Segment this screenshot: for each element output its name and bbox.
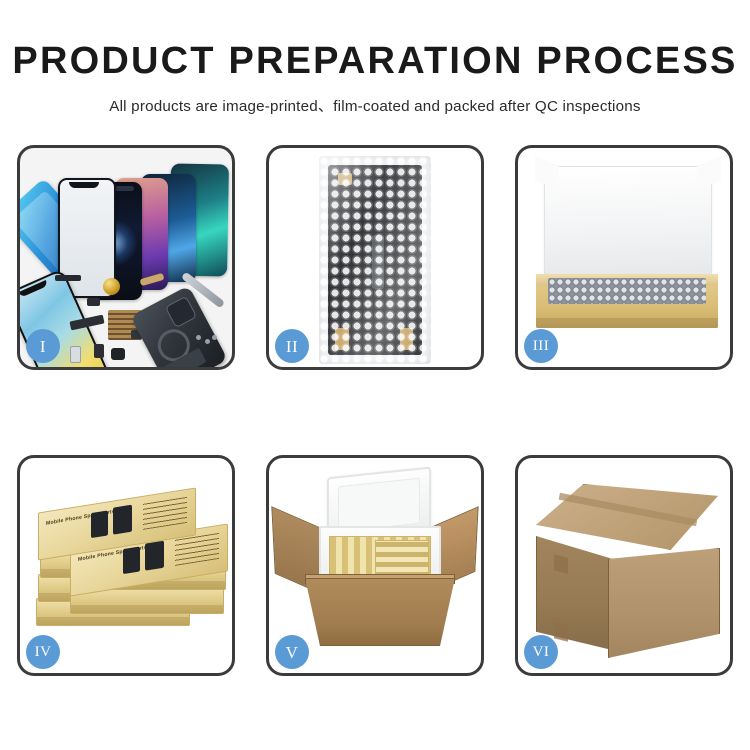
step-panel-4: Mobile Phone Spare Parts Mobile Phone Sp…: [17, 455, 235, 676]
box-phone-image-2: [113, 505, 132, 535]
steps-grid: I II: [17, 145, 733, 676]
box-phone-image-1: [123, 546, 140, 574]
kraft-box-tray: [536, 274, 718, 328]
page-subtitle: All products are image-printed、film-coat…: [0, 82, 750, 116]
sim-tray: [70, 346, 81, 363]
small-part-a: [87, 298, 100, 306]
step-badge-1: I: [26, 329, 60, 363]
header: PRODUCT PREPARATION PROCESS All products…: [0, 0, 750, 116]
packed-boxes-row-2: [375, 540, 429, 578]
box-phone-image-2: [145, 541, 164, 571]
carton-left-face: [536, 536, 612, 650]
step-badge-4: IV: [26, 635, 60, 669]
page-title: PRODUCT PREPARATION PROCESS: [0, 0, 750, 82]
bubble-wrap-bag: [319, 156, 431, 364]
carton-tape-upper: [554, 554, 568, 573]
step-badge-6: VI: [524, 635, 558, 669]
camera-module: [111, 348, 125, 360]
step-badge-2: II: [275, 329, 309, 363]
speaker-module: [94, 344, 104, 358]
step-badge-3: III: [524, 329, 558, 363]
product-preparation-infographic: PRODUCT PREPARATION PROCESS All products…: [0, 0, 750, 750]
small-part-bar-1: [55, 275, 81, 281]
step-panel-2: II: [266, 145, 484, 370]
carton-body: [305, 578, 455, 646]
step-badge-5: V: [275, 635, 309, 669]
screws-group: [196, 335, 218, 347]
step-panel-3: III: [515, 145, 733, 370]
camera-square: [165, 296, 197, 328]
white-box-lid: [544, 166, 712, 286]
gold-component: [103, 278, 120, 295]
carton-right-face: [608, 548, 720, 658]
box-spec-text: [143, 497, 187, 530]
step-panel-6: VI: [515, 455, 733, 676]
tray-shadow: [536, 318, 718, 328]
box-spec-text: [175, 533, 219, 566]
step-panel-1: I: [17, 145, 235, 370]
step-panel-5: V: [266, 455, 484, 676]
box-phone-image-1: [91, 510, 108, 538]
bubble-wrapped-contents: [548, 278, 706, 304]
bag-sheen: [319, 156, 431, 364]
carton-tape-lower: [554, 622, 568, 641]
box-stack: Mobile Phone Spare Parts Mobile Phone Sp…: [34, 480, 226, 660]
